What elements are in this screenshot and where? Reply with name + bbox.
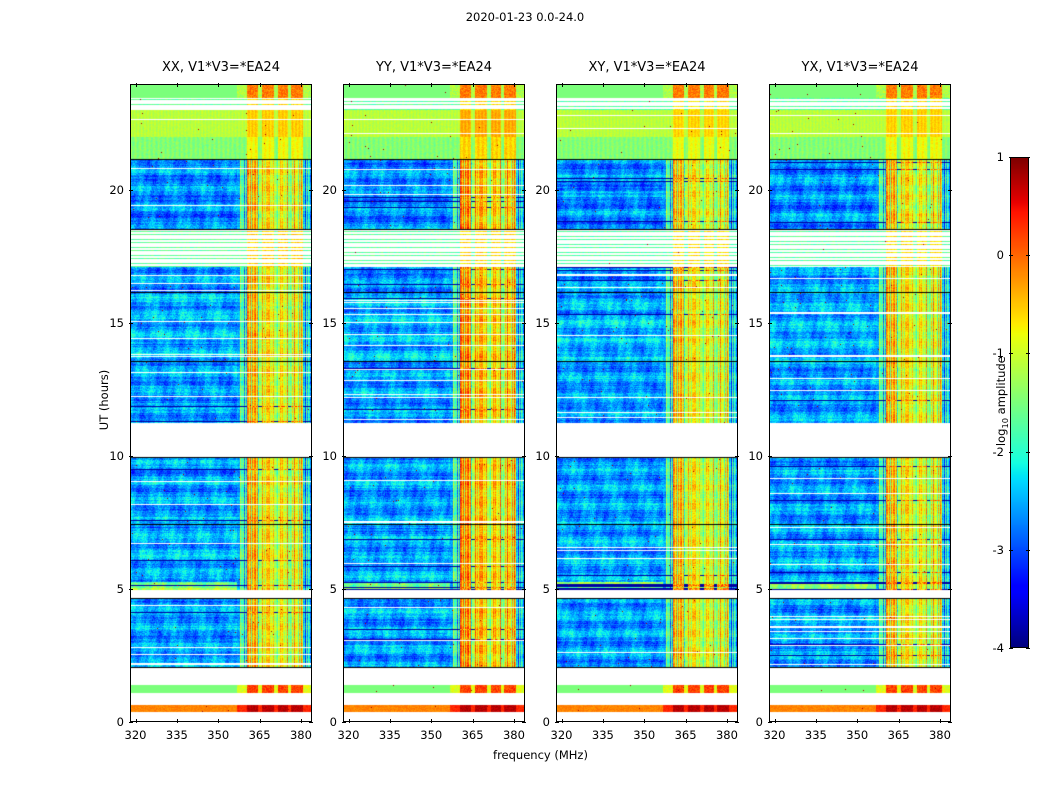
colorbar-tick [1009,255,1013,256]
x-tick [775,719,776,723]
x-tick-top [514,83,515,87]
x-tick-top [390,83,391,87]
y-tick-label: 5 [735,582,763,596]
colorbar-label-suffix: amplitude [994,356,1008,418]
y-tick-label: 5 [96,582,124,596]
waterfall-image [344,85,524,721]
x-tick-top [301,83,302,87]
figure-suptitle: 2020-01-23 0.0-24.0 [0,10,1050,24]
x-tick [301,719,302,723]
y-tick [555,589,559,590]
y-tick-label: 15 [735,316,763,330]
y-tick-label: 5 [309,582,337,596]
y-tick-label: 10 [522,449,550,463]
x-tick [727,719,728,723]
y-tick [555,190,559,191]
x-tick-label: 350 [207,728,229,742]
waterfall-xx[interactable] [130,84,312,722]
y-tick [555,456,559,457]
colorbar-tick [1009,157,1013,158]
y-tick-label: 20 [96,183,124,197]
y-tick [342,589,346,590]
y-tick [555,323,559,324]
x-axis-label: frequency (MHz) [130,748,951,762]
y-tick-label: 20 [309,183,337,197]
colorbar-gradient [1010,157,1029,648]
panel-yx: YX, V1*V3=*EA2432033535036538005101520 [769,84,951,722]
x-tick-top [136,83,137,87]
x-tick [431,719,432,723]
x-tick [857,719,858,723]
x-tick [349,719,350,723]
y-tick-label: 20 [522,183,550,197]
y-tick [129,323,133,324]
x-tick-label: 320 [764,728,786,742]
x-tick-label: 365 [249,728,271,742]
x-tick-top [603,83,604,87]
x-tick [514,719,515,723]
colorbar-tick-inner [1026,353,1030,354]
y-tick [342,456,346,457]
waterfall-image [770,85,950,721]
panel-title-xx: XX, V1*V3=*EA24 [130,60,312,75]
panel-title-yx: YX, V1*V3=*EA24 [769,60,951,75]
x-tick-label: 380 [716,728,738,742]
x-tick-label: 350 [846,728,868,742]
panel-xy: XY, V1*V3=*EA2432033535036538005101520 [556,84,738,722]
x-tick-top [260,83,261,87]
x-tick-top [899,83,900,87]
x-tick [603,719,604,723]
x-tick-label: 320 [338,728,360,742]
y-tick [768,190,772,191]
colorbar-tick-label: 0 [976,248,1004,262]
x-tick-top [775,83,776,87]
x-tick [177,719,178,723]
y-tick-label: 20 [735,183,763,197]
x-tick-top [686,83,687,87]
colorbar-tick-inner [1026,452,1030,453]
x-tick-top [562,83,563,87]
y-tick-right [948,323,952,324]
colorbar-tick [1009,648,1013,649]
x-tick [260,719,261,723]
y-tick-label: 0 [522,715,550,729]
x-tick-label: 365 [888,728,910,742]
x-tick [390,719,391,723]
y-tick [342,323,346,324]
y-tick-label: 15 [96,316,124,330]
waterfall-xy[interactable] [556,84,738,722]
x-tick-top [940,83,941,87]
x-tick-label: 365 [462,728,484,742]
x-tick-label: 380 [929,728,951,742]
panel-title-yy: YY, V1*V3=*EA24 [343,60,525,75]
x-tick-label: 335 [805,728,827,742]
y-tick-label: 0 [309,715,337,729]
x-tick-top [473,83,474,87]
y-tick [768,589,772,590]
y-tick [129,722,133,723]
x-tick-label: 335 [592,728,614,742]
x-tick-label: 335 [379,728,401,742]
y-tick-label: 10 [309,449,337,463]
y-tick-right [948,589,952,590]
x-tick [816,719,817,723]
x-tick [562,719,563,723]
y-tick-label: 5 [522,582,550,596]
waterfall-yy[interactable] [343,84,525,722]
x-tick-top [857,83,858,87]
figure-canvas: 2020-01-23 0.0-24.0 UT (hours) frequency… [0,0,1050,800]
colorbar-tick-inner [1026,157,1030,158]
y-tick-label: 15 [309,316,337,330]
x-tick-label: 380 [503,728,525,742]
panel-yy: YY, V1*V3=*EA2432033535036538005101520 [343,84,525,722]
x-tick-top [177,83,178,87]
colorbar-tick-label: 1 [976,150,1004,164]
y-tick [768,722,772,723]
y-tick [768,323,772,324]
y-tick [342,190,346,191]
x-tick [644,719,645,723]
colorbar-label-sub: 10 [1000,418,1010,429]
panel-xx: XX, V1*V3=*EA2432033535036538005101520 [130,84,312,722]
colorbar-image [1011,158,1028,647]
panel-title-xy: XY, V1*V3=*EA24 [556,60,738,75]
x-tick-label: 350 [633,728,655,742]
y-tick [129,589,133,590]
waterfall-image [131,85,311,721]
y-tick-label: 0 [96,715,124,729]
x-tick-top [727,83,728,87]
x-tick [940,719,941,723]
x-tick-top [644,83,645,87]
x-tick [218,719,219,723]
x-tick-label: 350 [420,728,442,742]
colorbar-tick-label: -3 [976,543,1004,557]
x-tick [136,719,137,723]
x-tick-top [349,83,350,87]
y-tick-label: 10 [735,449,763,463]
x-tick-label: 320 [125,728,147,742]
y-tick [129,190,133,191]
x-tick [686,719,687,723]
colorbar: -4-3-2-101 [1010,157,1029,648]
y-tick-right [948,456,952,457]
x-tick-label: 380 [290,728,312,742]
x-tick-top [218,83,219,87]
y-tick [129,456,133,457]
x-tick-top [816,83,817,87]
x-tick-top [431,83,432,87]
waterfall-image [557,85,737,721]
x-tick [899,719,900,723]
x-tick-label: 320 [551,728,573,742]
y-tick-right [948,722,952,723]
y-tick-label: 0 [735,715,763,729]
colorbar-tick [1009,550,1013,551]
waterfall-yx[interactable] [769,84,951,722]
y-tick-right [948,190,952,191]
colorbar-tick-label: -4 [976,641,1004,655]
y-tick [555,722,559,723]
colorbar-label: log10 amplitude [994,321,1010,481]
colorbar-label-prefix: log [994,428,1008,446]
colorbar-tick-inner [1026,648,1030,649]
colorbar-tick-inner [1026,255,1030,256]
y-tick-label: 15 [522,316,550,330]
colorbar-tick-inner [1026,550,1030,551]
x-tick [473,719,474,723]
y-tick [342,722,346,723]
x-tick-label: 335 [166,728,188,742]
y-tick [768,456,772,457]
x-tick-label: 365 [675,728,697,742]
y-tick-label: 10 [96,449,124,463]
